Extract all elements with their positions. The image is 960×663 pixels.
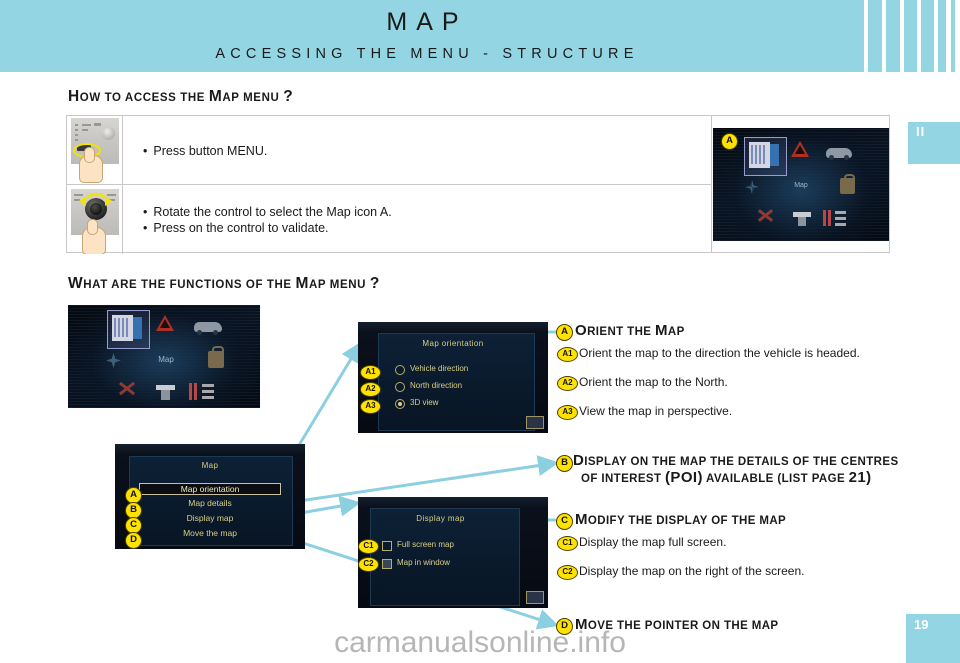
procedure-row-1: Press button MENU. <box>67 116 711 185</box>
badge-c2-description: C2 <box>557 565 578 580</box>
vehicle-wheel-large-2 <box>213 330 218 335</box>
map-icon-selection-box-large <box>107 310 150 349</box>
orientation-label-3d[interactable]: 3D view <box>410 398 438 407</box>
description-b-line2-b: AVAILABLE ( <box>703 473 782 485</box>
display-map-label-window[interactable]: Map in window <box>397 558 450 567</box>
main-menu-screen-large: Map <box>68 305 260 408</box>
description-b-title: DISPLAY ON THE MAP THE DETAILS OF THE CE… <box>573 453 903 487</box>
procedure-table-divider <box>711 116 712 252</box>
warning-triangle-icon-large <box>156 315 174 331</box>
map-menu-screen: Map Map orientation Map details Display … <box>115 444 305 549</box>
settings-bars-icon-large-3 <box>202 384 214 387</box>
header-stripe-decoration <box>854 0 960 72</box>
page-number: 19 <box>914 617 928 632</box>
description-c2-text: Display the map on the right of the scre… <box>579 564 804 578</box>
settings-bars-icon-large-1 <box>189 383 192 400</box>
map-center-label: Map <box>783 182 819 189</box>
description-b-line2-d: ) <box>866 469 871 486</box>
badge-c-description: C <box>556 513 573 530</box>
map-menu-topbar <box>115 444 305 455</box>
map-menu-title: Map <box>115 461 305 470</box>
orientation-label-vehicle[interactable]: Vehicle direction <box>410 364 468 373</box>
audio-icon-large-base <box>161 390 170 400</box>
page-subtitle: ACCESSING THE MENU - STRUCTURE <box>0 46 854 62</box>
procedure-row-2: Rotate the control to select the Map ico… <box>67 185 711 254</box>
display-map-title: Display map <box>358 514 523 523</box>
badge-a1-description: A1 <box>557 347 578 362</box>
lock-shackle-icon <box>844 174 855 183</box>
settings-bars-icon-large-5 <box>202 396 214 399</box>
badge-d-map-menu: D <box>125 532 142 549</box>
description-a1-text: Orient the map to the direction the vehi… <box>579 346 860 360</box>
description-a-title-rest2: AP <box>668 326 685 338</box>
map-menu-item-display-map[interactable]: Display map <box>139 513 281 523</box>
heading-how-rest1: OW TO ACCESS THE <box>80 92 209 104</box>
description-b-line1-rest: ISPLAY ON THE MAP THE DETAILS OF THE CEN… <box>584 456 898 468</box>
orientation-title: Map orientation <box>358 339 548 348</box>
badge-c1-display: C1 <box>358 539 379 554</box>
display-map-label-fullscreen[interactable]: Full screen map <box>397 540 454 549</box>
hand-pointer-graphic <box>79 155 103 183</box>
description-c-title: MODIFY THE DISPLAY OF THE MAP <box>575 511 786 528</box>
map-menu-item-map-details[interactable]: Map details <box>139 498 281 508</box>
map-center-label-large: Map <box>146 355 186 364</box>
vehicle-wheel-1 <box>829 155 834 160</box>
description-c-title-rest: ODIFY THE DISPLAY OF THE MAP <box>588 515 786 527</box>
description-a-title-cap: O <box>575 322 587 339</box>
procedure-row-2-line-1: Rotate the control to select the Map ico… <box>143 204 392 220</box>
heading-what-question: ? <box>370 275 380 292</box>
description-c1-text: Display the map full screen. <box>579 535 726 549</box>
description-a3-text: View the map in perspective. <box>579 404 732 418</box>
orientation-topbar <box>358 322 548 333</box>
procedure-row-1-text: Press button MENU. <box>143 116 267 185</box>
badge-a3-orientation: A3 <box>360 399 381 414</box>
display-map-screen: Display map Full screen map Map in windo… <box>358 497 548 608</box>
vehicle-wheel-large-1 <box>197 330 202 335</box>
settings-bars-icon-5 <box>835 223 846 226</box>
display-map-checkbox-window[interactable] <box>382 559 392 569</box>
description-a-title: ORIENT THE MAP <box>575 322 685 339</box>
heading-how-to-access: HOW TO ACCESS THE MAP MENU ? <box>68 88 293 106</box>
settings-bars-icon-2 <box>828 210 831 226</box>
heading-how-cap2: M <box>209 88 223 105</box>
badge-a1-orientation: A1 <box>360 365 381 380</box>
settings-bars-icon-4 <box>835 217 846 220</box>
badge-c2-display: C2 <box>358 557 379 572</box>
description-b-line2-num: 21 <box>849 469 867 486</box>
lock-shackle-icon-large <box>212 346 224 356</box>
display-map-checkbox-fullscreen[interactable] <box>382 541 392 551</box>
badge-a2-orientation: A2 <box>360 382 381 397</box>
description-c-title-cap: M <box>575 511 588 528</box>
description-a2-text: Orient the map to the North. <box>579 375 728 389</box>
site-watermark: carmanualsonline.info <box>0 626 960 660</box>
heading-what-cap2: M <box>296 275 310 292</box>
settings-bars-icon-large-4 <box>202 390 214 393</box>
badge-b-description: B <box>556 455 573 472</box>
description-b-line1-cap: D <box>573 452 584 469</box>
map-icon-selection-box <box>744 137 787 176</box>
badge-a-on-menu-screen: A <box>721 133 738 150</box>
procedure-row-1-line-1: Press button MENU. <box>143 143 267 159</box>
description-b-line2-c: LIST PAGE <box>782 473 849 485</box>
main-menu-screen: Map <box>713 128 889 241</box>
heading-what-are-functions: WHAT ARE THE FUNCTIONS OF THE MAP MENU ? <box>68 275 380 293</box>
description-a-title-rest: RIENT THE <box>587 326 655 338</box>
description-b-line2-poi: (POI) <box>665 469 703 486</box>
hand-pointer-graphic-2 <box>82 227 106 254</box>
map-menu-item-map-orientation[interactable]: Map orientation <box>139 483 281 495</box>
procedure-table: Press button MENU. Rotate the control to… <box>66 115 890 253</box>
map-menu-item-move-the-map[interactable]: Move the map <box>139 528 281 538</box>
orientation-radio-vehicle[interactable] <box>395 365 405 375</box>
description-a-title-cap2: M <box>655 322 668 339</box>
procedure-row-2-text: Rotate the control to select the Map ico… <box>143 185 392 254</box>
audio-icon-base <box>798 217 806 226</box>
orientation-radio-3d[interactable] <box>395 399 405 409</box>
settings-bars-icon-3 <box>835 211 846 214</box>
compass-icon <box>745 180 759 194</box>
heading-what-rest2: AP MENU <box>309 279 370 291</box>
chapter-tab-marker: II <box>908 122 960 164</box>
compass-icon-large <box>106 353 121 368</box>
heading-what-rest1: HAT ARE THE FUNCTIONS OF THE <box>83 279 295 291</box>
map-orientation-screen: Map orientation Vehicle direction North … <box>358 322 548 433</box>
settings-bars-icon-large-2 <box>194 383 197 400</box>
badge-a3-description: A3 <box>557 405 578 420</box>
badge-c1-description: C1 <box>557 536 578 551</box>
heading-what-cap1: W <box>68 275 83 292</box>
procedure-row-2-line-2: Press on the control to validate. <box>143 220 392 236</box>
display-map-topbar <box>358 497 548 508</box>
radio-menu-button-image <box>67 116 123 185</box>
badge-a-description: A <box>556 324 573 341</box>
orientation-corner-icon[interactable] <box>526 416 544 429</box>
page-header: MAP ACCESSING THE MENU - STRUCTURE <box>0 0 960 72</box>
radio-rotary-control-image <box>67 185 123 254</box>
orientation-radio-north[interactable] <box>395 382 405 392</box>
orientation-label-north[interactable]: North direction <box>410 381 462 390</box>
heading-how-cap1: H <box>68 88 80 105</box>
description-b-line2-a: OF INTEREST <box>581 473 665 485</box>
vehicle-wheel-2 <box>844 155 849 160</box>
heading-how-rest2: AP MENU <box>222 92 283 104</box>
heading-how-question: ? <box>283 88 293 105</box>
page-title: MAP <box>0 8 854 37</box>
settings-bars-icon <box>823 210 826 226</box>
badge-a2-description: A2 <box>557 376 578 391</box>
display-map-corner-icon[interactable] <box>526 591 544 604</box>
warning-triangle-icon <box>791 141 809 157</box>
